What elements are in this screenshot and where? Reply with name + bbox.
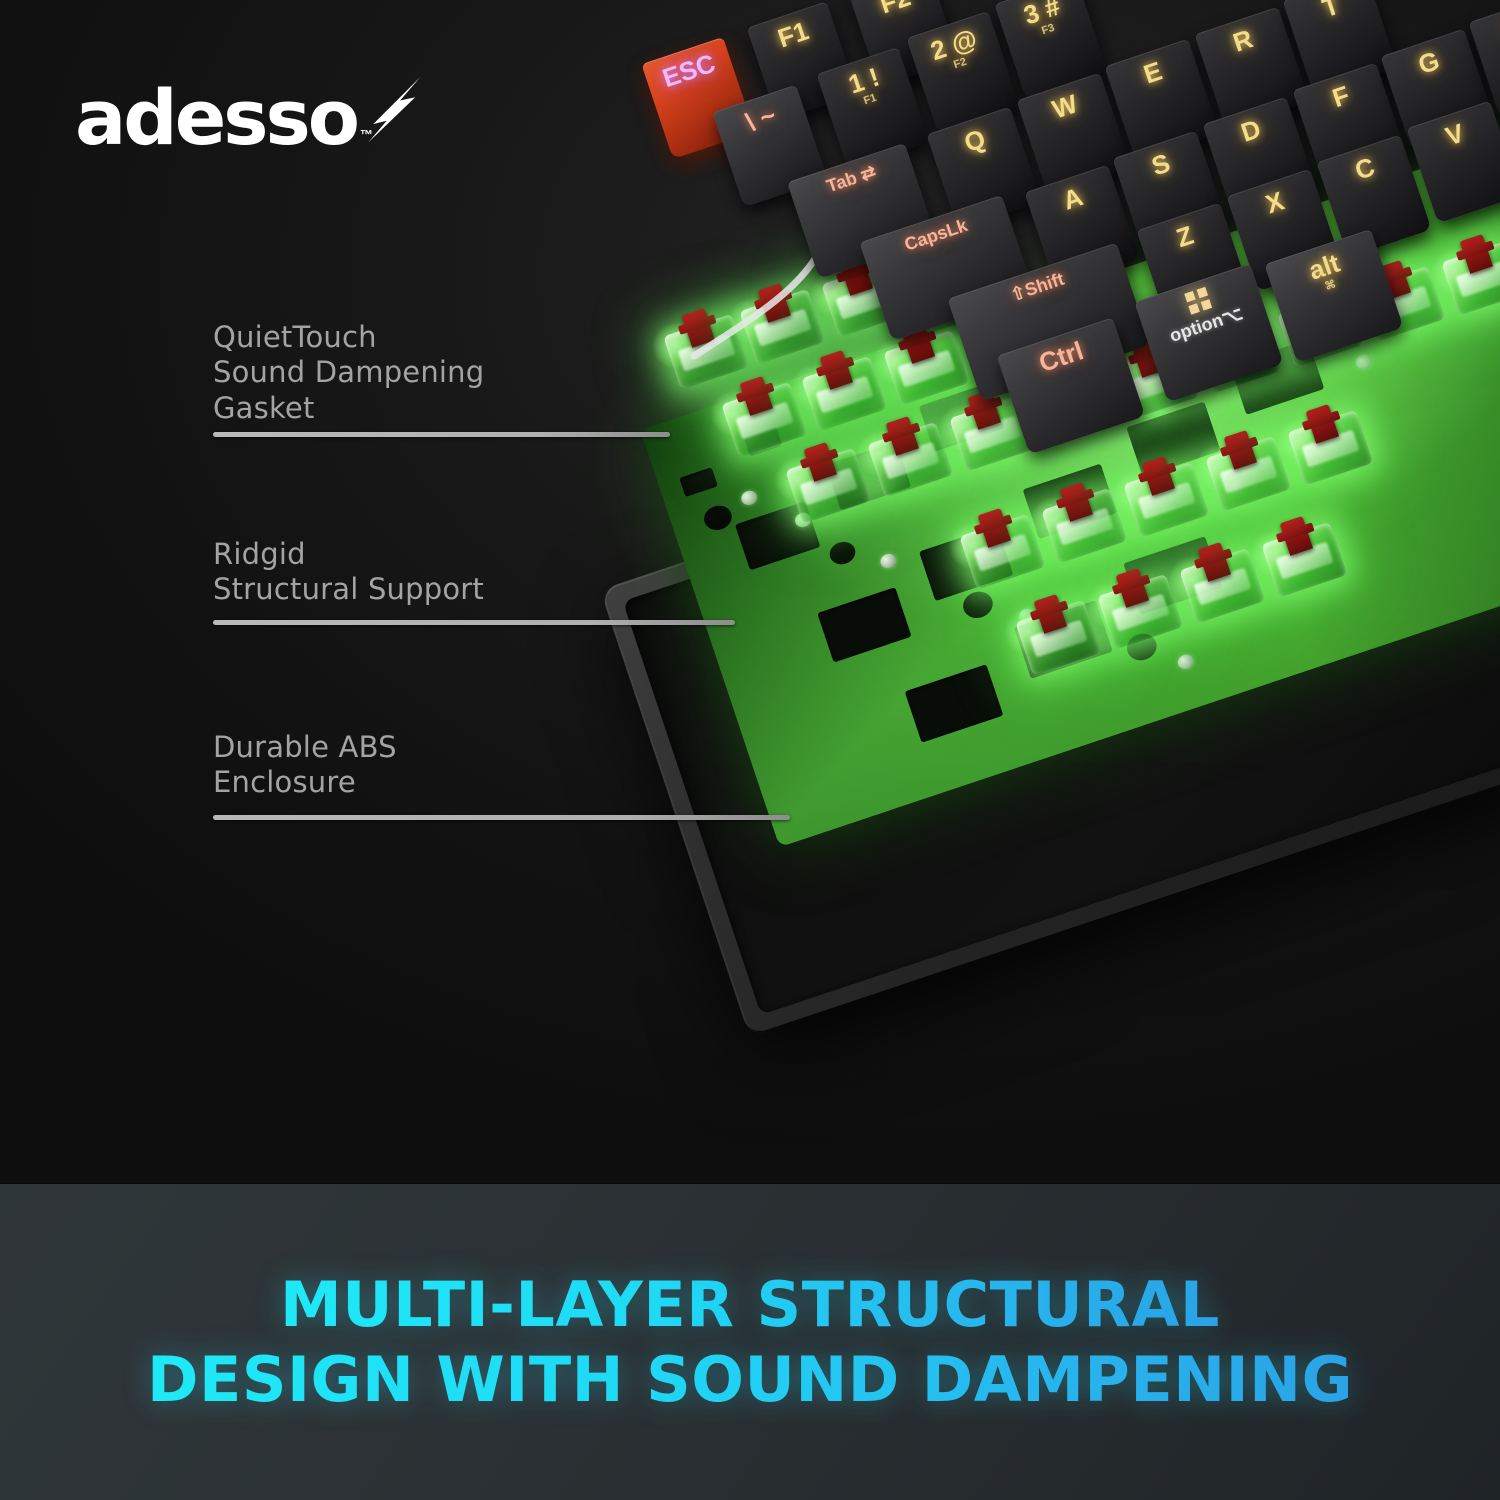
headline-line-1: MULTI-LAYER STRUCTURAL: [280, 1270, 1220, 1340]
leader-line-structure: [213, 620, 735, 625]
keycap-legend: F2: [874, 0, 914, 18]
keycap-legend: Tab ⇄: [822, 155, 878, 196]
keycap-legend: R: [1227, 18, 1256, 57]
callout-label: Durable ABS Enclosure: [213, 730, 397, 801]
keycap-legend: G: [1413, 39, 1443, 78]
windows-logo-icon: [1184, 287, 1212, 315]
keycap-legend: F: [1327, 74, 1353, 112]
keycap-legend: W: [1046, 83, 1080, 124]
keycap-legend: E: [1138, 50, 1165, 88]
leader-line-gasket: [213, 432, 670, 437]
keycap-legend: X: [1260, 180, 1287, 218]
keycap-legend: V: [1440, 112, 1467, 150]
headline-line-2: DESIGN WITH SOUND DAMPENING: [147, 1345, 1353, 1415]
leader-line-enclosure: [213, 815, 790, 820]
keycap-legend: ESC: [657, 42, 719, 92]
keycap-sublegend: F1: [854, 89, 886, 109]
keycap-sublegend: ⌘: [1314, 276, 1346, 296]
keycap-legend: \ ~: [740, 94, 779, 136]
headline-banner: MULTI-LAYER STRUCTURAL DESIGN WITH SOUND…: [0, 1183, 1500, 1500]
keycap-legend: 1 !F1: [843, 56, 887, 110]
keycap-legend: C: [1349, 146, 1378, 185]
keycap-legend: S: [1146, 142, 1173, 180]
keycap-legend: F1: [772, 10, 812, 52]
product-marketing-image: ESCF1F2\ ~1 !F12 @F23 #F3Tab ⇄QWERTCapsL…: [0, 0, 1500, 1500]
keycap-legend: A: [1057, 176, 1086, 215]
callout-enclosure: Durable ABS Enclosure: [213, 730, 397, 801]
callout-label: QuietTouch Sound Dampening Gasket: [213, 320, 484, 426]
brand-name: adesso: [75, 86, 357, 150]
keycap-sublegend: F3: [1029, 19, 1067, 41]
keycap-legend: 3 #F3: [1018, 0, 1067, 41]
keycap-legend: Q: [959, 117, 989, 156]
callout-structure: Ridgid Structural Support: [213, 537, 484, 608]
callout-gasket: QuietTouch Sound Dampening Gasket: [213, 320, 484, 426]
brand-logo: adesso ™: [75, 86, 373, 150]
trademark-symbol: ™: [360, 127, 373, 142]
keycap-legend: alt⌘: [1303, 242, 1347, 296]
keycap-legend: D: [1235, 108, 1264, 147]
keycap-legend: T: [1317, 0, 1343, 22]
callout-label: Ridgid Structural Support: [213, 537, 484, 608]
keycap-sublegend: F2: [936, 51, 984, 77]
keycap-legend: Z: [1171, 214, 1197, 252]
product-photo: ESCF1F2\ ~1 !F12 @F23 #F3Tab ⇄QWERTCapsL…: [0, 0, 1500, 1183]
